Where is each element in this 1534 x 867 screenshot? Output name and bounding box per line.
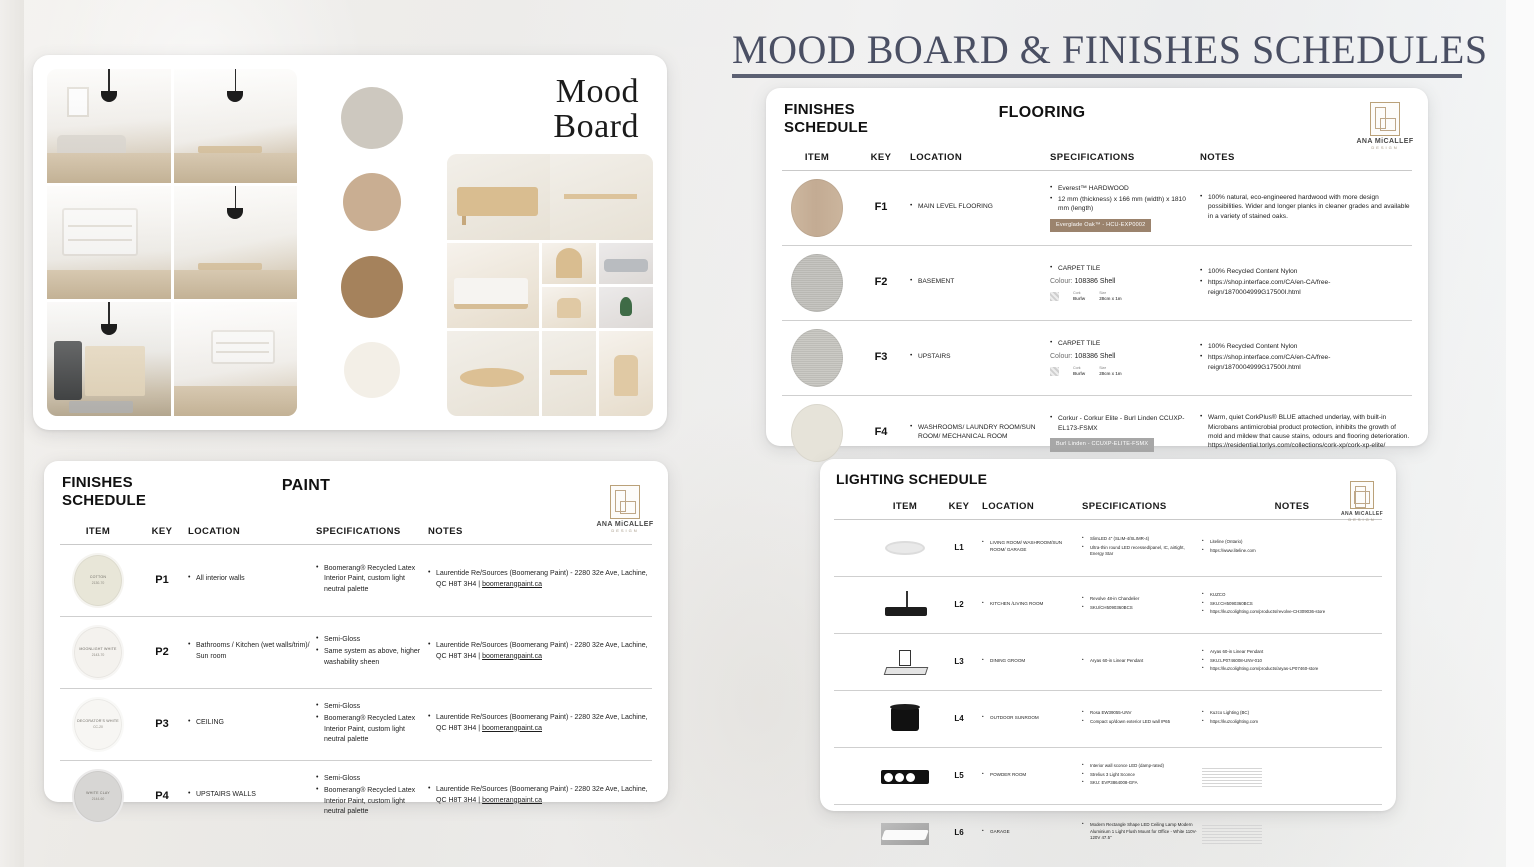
mood-board-photo-grid [47, 69, 297, 416]
location-text: UPSTAIRS [910, 352, 1044, 361]
paint-spec-p3: Semi-Gloss Boomerang® Recycled Latex Int… [316, 702, 428, 748]
mood-swatch-warm-grey [341, 87, 403, 149]
paint-location-p4: UPSTAIRS WALLS [188, 790, 316, 803]
note-link: https://shop.interface.com/CA/en-CA/free… [1200, 278, 1412, 297]
flooring-swatch-f4 [791, 404, 843, 462]
col-item: ITEM [874, 501, 936, 512]
table-row: L2 KITCHEN /LIVING ROOM Revolve 48-in Ch… [834, 577, 1382, 634]
location-text: POWDER ROOM [982, 772, 1078, 779]
spec-line: Modern Rectangle Shape LED Ceiling Lamp … [1082, 822, 1198, 842]
flooring-notes-f3: 100% Recycled Content Nylon https://shop… [1200, 342, 1412, 374]
paint-key-p4: P4 [136, 788, 188, 805]
pattern-swatch-icon [1050, 367, 1059, 376]
flush-mount-panel-icon [877, 813, 933, 853]
furniture-side-chair [599, 331, 653, 416]
lighting-column-headers: ITEM KEY LOCATION SPECIFICATIONS NOTES [834, 501, 1382, 520]
location-text: KITCHEN /LIVING ROOM [982, 601, 1078, 608]
location-text: OUTDOOR SUNROOM [982, 715, 1078, 722]
lighting-key-l5: L5 [936, 770, 982, 782]
paint-spec-p4: Semi-Gloss Boomerang® Recycled Latex Int… [316, 774, 428, 820]
flooring-key-f4: F4 [852, 425, 910, 441]
furniture-dining-set [550, 154, 653, 239]
lighting-notes-l1: Liteline (Ontario) https://www.liteline.… [1202, 539, 1382, 556]
vanity-bar-icon [877, 756, 933, 796]
paint-location-p1: All interior walls [188, 574, 316, 587]
spec-line: Semi-Gloss [316, 774, 422, 785]
flooring-notes-f4: Warm, quiet CorkPlus® BLUE attached unde… [1200, 413, 1412, 452]
note-line: SKU:LP0746008-UNV-010 [1202, 658, 1382, 665]
furniture-oak-bed [447, 243, 539, 328]
lighting-spec-l3: Aryas 60-in Linear Pendant [1082, 658, 1202, 667]
spec-line: Everest™ HARDWOOD [1050, 184, 1194, 193]
table-row: DECORATOR'S WHITE CC-20 P3 CEILING Semi-… [60, 689, 652, 761]
note-line: 100% natural, eco-engineered hardwood wi… [1200, 193, 1412, 221]
col-specifications: SPECIFICATIONS [1050, 152, 1200, 163]
flooring-mini-ui-f3: CorkBurlw Size28cm x 1m [1050, 366, 1194, 377]
col-key: KEY [852, 152, 910, 163]
spec-detail-table [1202, 823, 1262, 844]
pattern-swatch-icon [1050, 292, 1059, 301]
location-text: LIVING ROOM/ WASHROOM/SUN ROOM/ GARAGE [982, 540, 1078, 554]
paint-notes-p3: Laurentide Re/Sources (Boomerang Paint) … [428, 713, 652, 736]
location-text: WASHROOMS/ LAUNDRY ROOM/SUN ROOM/ MECHAN… [910, 423, 1044, 442]
logo-mark-icon [1350, 481, 1374, 509]
flooring-category-label: FLOORING [766, 104, 1318, 122]
col-key: KEY [936, 501, 982, 512]
recessed-downlight-icon [877, 528, 933, 568]
logo-name: ANA MiCALLEF [1356, 138, 1414, 145]
furniture-cane-armchair [542, 287, 596, 328]
lighting-location-l3: DINING GROOM [982, 658, 1082, 667]
lighting-location-l5: POWDER ROOM [982, 772, 1082, 781]
lighting-spec-l6: Modern Rectangle Shape LED Ceiling Lamp … [1082, 822, 1202, 844]
drum-wall-light-icon [877, 699, 933, 739]
col-key: KEY [136, 526, 188, 537]
supplier-link[interactable]: boomerangpaint.ca [482, 581, 542, 588]
lighting-icon-cell [874, 528, 936, 568]
note-line: Laurentide Re/Sources (Boomerang Paint) … [428, 641, 652, 662]
lighting-key-l2: L2 [936, 599, 982, 611]
lighting-spec-l1: SlimLED 4" (SLIM-4/SLIMR-4) Ultra-thin r… [1082, 536, 1202, 560]
mood-board-card: Mood Board [33, 55, 667, 430]
paint-swatch-code: 2143-70 [92, 653, 104, 658]
flooring-brand-logo: ANA MiCALLEF DESIGN [1356, 102, 1414, 150]
flooring-notes-f2: 100% Recycled Content Nylon https://shop… [1200, 267, 1412, 299]
flooring-location-f2: BASEMENT [910, 277, 1050, 288]
location-text: MAIN LEVEL FLOORING [910, 202, 1044, 211]
paint-spec-p1: Boomerang® Recycled Latex Interior Paint… [316, 564, 428, 598]
paint-category-label: PAINT [44, 477, 568, 495]
lighting-location-l6: GARAGE [982, 829, 1082, 838]
mood-board-title: Mood Board [447, 69, 653, 144]
colour-value: 108386 Shell [1075, 353, 1116, 360]
col-item: ITEM [782, 152, 852, 163]
table-row: F1 MAIN LEVEL FLOORING Everest™ HARDWOOD… [782, 171, 1412, 246]
spec-line: CARPET TILE [1050, 339, 1194, 348]
paint-swatch-p3: DECORATOR'S WHITE CC-20 [72, 697, 124, 752]
paint-swatch-cell: COTTON 2130-70 [60, 553, 136, 608]
lighting-notes-l6 [1202, 823, 1382, 844]
flooring-location-f3: UPSTAIRS [910, 352, 1050, 363]
note-line: 100% Recycled Content Nylon [1200, 342, 1412, 351]
paint-spec-p2: Semi-Gloss Same system as above, higher … [316, 635, 428, 671]
paint-swatch-p2: MOONLIGHT WHITE 2143-70 [72, 625, 124, 680]
note-link: https://kuzcolighting.com [1202, 719, 1382, 726]
supplier-link[interactable]: boomerangpaint.ca [482, 797, 542, 804]
lighting-brand-logo: ANA MiCALLEF DESIGN [1338, 481, 1386, 522]
table-row: MOONLIGHT WHITE 2143-70 P2 Bathrooms / K… [60, 617, 652, 689]
flooring-location-f4: WASHROOMS/ LAUNDRY ROOM/SUN ROOM/ MECHAN… [910, 423, 1050, 444]
flooring-swatch-cell [782, 329, 852, 387]
flooring-location-f1: MAIN LEVEL FLOORING [910, 202, 1050, 213]
paint-notes-p1: Laurentide Re/Sources (Boomerang Paint) … [428, 569, 652, 592]
flooring-swatch-cell [782, 254, 852, 312]
note-line: Laurentide Re/Sources (Boomerang Paint) … [428, 569, 652, 590]
note-line: Warm, quiet CorkPlus® BLUE attached unde… [1200, 413, 1412, 450]
mood-swatch-tan [343, 173, 401, 231]
spec-line: Semi-Gloss [316, 702, 422, 713]
lighting-location-l1: LIVING ROOM/ WASHROOM/SUN ROOM/ GARAGE [982, 540, 1082, 556]
mini-size-label: Size28cm x 1m [1099, 366, 1121, 377]
flooring-swatch-cell [782, 404, 852, 462]
flooring-column-headers: ITEM KEY LOCATION SPECIFICATIONS NOTES [782, 152, 1412, 171]
logo-mark-icon [610, 485, 640, 519]
paint-notes-p2: Laurentide Re/Sources (Boomerang Paint) … [428, 641, 652, 664]
mood-photo-dining [174, 186, 298, 300]
note-line: 100% Recycled Content Nylon [1200, 267, 1412, 276]
note-line: KUZCO [1202, 592, 1382, 599]
supplier-link[interactable]: boomerangpaint.ca [482, 725, 542, 732]
flooring-product-chip-f4: Burl Linden - CCUXP-ELITE-FSMX [1050, 438, 1154, 452]
location-text: Bathrooms / Kitchen (wet walls/trim)/ Su… [188, 641, 310, 662]
spec-line: Boomerang® Recycled Latex Interior Paint… [316, 714, 422, 746]
lighting-notes-l3: Aryas 60-in Linear Pendant SKU:LP0746008… [1202, 649, 1382, 675]
paint-key-p2: P2 [136, 644, 188, 661]
note-line: Laurentide Re/Sources (Boomerang Paint) … [428, 785, 652, 806]
flooring-spec-f1: Everest™ HARDWOOD 12 mm (thickness) x 16… [1050, 184, 1200, 233]
location-text: UPSTAIRS WALLS [188, 790, 310, 801]
paint-location-p2: Bathrooms / Kitchen (wet walls/trim)/ Su… [188, 641, 316, 664]
paint-swatch-cell: WHITE CLAY 2144-60 [60, 769, 136, 824]
flooring-key-f3: F3 [852, 350, 910, 366]
colour-label: Colour: [1050, 353, 1073, 360]
note-link: https://kuzcolighting.com/products/revol… [1202, 609, 1382, 616]
paint-column-headers: ITEM KEY LOCATION SPECIFICATIONS NOTES [60, 526, 652, 545]
spec-line: Compact up/down exterior LED wall IP65 [1082, 719, 1198, 726]
lighting-icon-cell [874, 699, 936, 739]
logo-name: ANA MiCALLEF [596, 521, 654, 528]
spec-line: Aryas 60-in Linear Pendant [1082, 658, 1198, 665]
flooring-notes-f1: 100% natural, eco-engineered hardwood wi… [1200, 193, 1412, 223]
mood-board-color-swatches [307, 69, 437, 416]
col-specifications: SPECIFICATIONS [316, 526, 428, 537]
table-row: F2 BASEMENT CARPET TILE Colour: 108386 S… [782, 246, 1412, 321]
supplier-link[interactable]: boomerangpaint.ca [482, 653, 542, 660]
spec-line: Revolve 48-in Chandelier [1082, 596, 1198, 603]
col-notes: NOTES [1200, 152, 1412, 163]
lighting-spec-l2: Revolve 48-in Chandelier SKU/CH5090360BC… [1082, 596, 1202, 613]
note-link: https://www.liteline.com [1202, 548, 1382, 555]
lighting-key-l1: L1 [936, 542, 982, 554]
spec-line: Interior wall sconce LED (damp-rated) [1082, 763, 1198, 770]
paint-swatch-cell: DECORATOR'S WHITE CC-20 [60, 697, 136, 752]
col-location: LOCATION [982, 501, 1082, 512]
location-text: All interior walls [188, 574, 310, 585]
lighting-key-l4: L4 [936, 713, 982, 725]
chandelier-icon [877, 585, 933, 625]
flooring-swatch-f2 [791, 254, 843, 312]
lighting-icon-cell [874, 756, 936, 796]
flooring-spec-f4: Corkur - Corkur Elite - Burl Linden CCUX… [1050, 414, 1200, 452]
mood-photo-shelving [47, 186, 171, 300]
flooring-key-f1: F1 [852, 200, 910, 216]
lighting-schedule-card: LIGHTING SCHEDULE ANA MiCALLEF DESIGN IT… [820, 459, 1396, 811]
table-row: F3 UPSTAIRS CARPET TILE Colour: 108386 S… [782, 321, 1412, 396]
spec-line: Rosa EW39055-UNV [1082, 710, 1198, 717]
location-text: CEILING [188, 718, 310, 729]
paint-swatch-p4: WHITE CLAY 2144-60 [72, 769, 124, 824]
table-row: L1 LIVING ROOM/ WASHROOM/SUN ROOM/ GARAG… [834, 520, 1382, 577]
background-right-strip [1506, 0, 1534, 867]
flooring-product-chip-f1: Everglade Oak™ - HCU-EXP0002 [1050, 219, 1151, 233]
paint-swatch-code: 2144-60 [92, 797, 104, 802]
note-line: Laurentide Re/Sources (Boomerang Paint) … [428, 713, 652, 734]
paint-schedule-card: FINISHES SCHEDULE PAINT ANA MiCALLEF DES… [44, 461, 668, 802]
paint-location-p3: CEILING [188, 718, 316, 731]
note-link: https://kuzcolighting.com/products/aryas… [1202, 666, 1382, 673]
lighting-key-l3: L3 [936, 656, 982, 668]
lighting-key-l6: L6 [936, 827, 982, 839]
logo-mark-icon [1370, 102, 1400, 136]
table-row: WHITE CLAY 2144-60 P4 UPSTAIRS WALLS Sem… [60, 761, 652, 832]
logo-subtitle: DESIGN [1356, 145, 1414, 150]
page-title: MOOD BOARD & FINISHES SCHEDULES [732, 26, 1462, 78]
lighting-spec-l4: Rosa EW39055-UNV Compact up/down exterio… [1082, 710, 1202, 727]
linear-pendant-icon [877, 642, 933, 682]
mood-swatch-cream [344, 342, 400, 398]
table-row: L6 GARAGE Modern Rectangle Shape LED Cei… [834, 805, 1382, 861]
paint-key-p3: P3 [136, 716, 188, 733]
furniture-oak-bench [542, 331, 596, 416]
location-text: BASEMENT [910, 277, 1044, 286]
spec-line: Corkur - Corkur Elite - Burl Linden CCUX… [1050, 414, 1194, 433]
lighting-notes-l4: Kuzco Lighting (BC) https://kuzcolightin… [1202, 710, 1382, 727]
mood-board-title-line1: Mood [447, 75, 639, 110]
note-line: Aryas 60-in Linear Pendant [1202, 649, 1382, 656]
furniture-potted-plant [599, 287, 653, 328]
paint-swatch-p1: COTTON 2130-70 [72, 553, 124, 608]
col-specifications: SPECIFICATIONS [1082, 501, 1202, 512]
flooring-swatch-cell [782, 179, 852, 237]
mini-swatch-label: CorkBurlw [1073, 291, 1085, 302]
note-line: Liteline (Ontario) [1202, 539, 1382, 546]
table-row: L3 DINING GROOM Aryas 60-in Linear Penda… [834, 634, 1382, 691]
spec-detail-table [1202, 766, 1262, 787]
lighting-location-l4: OUTDOOR SUNROOM [982, 715, 1082, 724]
logo-subtitle: DESIGN [1338, 517, 1386, 522]
furniture-round-coffee-table [447, 331, 539, 416]
flooring-key-f2: F2 [852, 275, 910, 291]
logo-subtitle: DESIGN [596, 528, 654, 533]
note-line: Kuzco Lighting (BC) [1202, 710, 1382, 717]
paint-brand-logo: ANA MiCALLEF DESIGN [596, 485, 654, 533]
flooring-swatch-f3 [791, 329, 843, 387]
flooring-spec-f3: CARPET TILE Colour: 108386 Shell CorkBur… [1050, 339, 1200, 377]
furniture-oak-sideboard [447, 154, 550, 239]
paint-swatch-code: 2130-70 [92, 581, 104, 586]
mood-board-furniture-grid [447, 154, 653, 416]
flooring-swatch-f1 [791, 179, 843, 237]
mini-swatch-label: CorkBurlw [1073, 366, 1085, 377]
paint-swatch-cell: MOONLIGHT WHITE 2143-70 [60, 625, 136, 680]
mood-photo-kitchen [174, 69, 298, 183]
paint-notes-p4: Laurentide Re/Sources (Boomerang Paint) … [428, 785, 652, 808]
flooring-spec-f2: CARPET TILE Colour: 108386 Shell CorkBur… [1050, 264, 1200, 302]
lighting-notes-l5 [1202, 766, 1382, 787]
paint-key-p1: P1 [136, 572, 188, 589]
background-left-strip [0, 0, 24, 867]
table-row: L5 POWDER ROOM Interior wall sconce LED … [834, 748, 1382, 805]
lighting-notes-l2: KUZCO SKU:CH5090360BCS https://kuzcoligh… [1202, 592, 1382, 618]
note-link: https://shop.interface.com/CA/en-CA/free… [1200, 353, 1412, 372]
table-row: L4 OUTDOOR SUNROOM Rosa EW39055-UNV Comp… [834, 691, 1382, 748]
spec-line: SKU: EVP3864008-GFA [1082, 780, 1198, 787]
col-location: LOCATION [910, 152, 1050, 163]
mood-photo-workshop [47, 302, 171, 416]
spec-line: SlimLED 4" (SLIM-4/SLIMR-4) [1082, 536, 1198, 543]
spec-line: Strelius 3 Light Sconce [1082, 772, 1198, 779]
spec-line: 12 mm (thickness) x 166 mm (width) x 181… [1050, 195, 1194, 214]
location-text: DINING GROOM [982, 658, 1078, 665]
spec-line: Same system as above, higher washability… [316, 647, 422, 668]
spec-line: Boomerang® Recycled Latex Interior Paint… [316, 564, 422, 596]
table-row: COTTON 2130-70 P1 All interior walls Boo… [60, 545, 652, 617]
note-line: SKU:CH5090360BCS [1202, 601, 1382, 608]
colour-label: Colour: [1050, 278, 1073, 285]
furniture-arched-shelf [542, 243, 596, 284]
mood-swatch-dark-camel [341, 256, 403, 318]
spec-line: Ultra-thin round LED recessed/panel, IC,… [1082, 545, 1198, 558]
flooring-mini-ui-f2: CorkBurlw Size28cm x 1m [1050, 291, 1194, 302]
location-text: GARAGE [982, 829, 1078, 836]
mood-photo-living-room [47, 69, 171, 183]
lighting-location-l2: KITCHEN /LIVING ROOM [982, 601, 1082, 610]
mood-photo-entry [174, 302, 298, 416]
mood-board-title-line2: Board [447, 110, 639, 145]
paint-swatch-code: CC-20 [93, 725, 103, 730]
flooring-schedule-card: FINISHES SCHEDULE FLOORING ANA MiCALLEF … [766, 88, 1428, 446]
furniture-grey-sofa [599, 243, 653, 284]
lighting-spec-l5: Interior wall sconce LED (damp-rated) St… [1082, 763, 1202, 789]
lighting-schedule-title: LIGHTING SCHEDULE [836, 471, 987, 488]
spec-line: CARPET TILE [1050, 264, 1194, 273]
spec-line: Boomerang® Recycled Latex Interior Paint… [316, 786, 422, 818]
lighting-icon-cell [874, 642, 936, 682]
col-item: ITEM [60, 526, 136, 537]
spec-line: Semi-Gloss [316, 635, 422, 646]
mini-size-label: Size28cm x 1m [1099, 291, 1121, 302]
colour-value: 108386 Shell [1075, 278, 1116, 285]
lighting-icon-cell [874, 813, 936, 853]
col-location: LOCATION [188, 526, 316, 537]
spec-line: SKU/CH5090360BCS [1082, 605, 1198, 612]
lighting-icon-cell [874, 585, 936, 625]
